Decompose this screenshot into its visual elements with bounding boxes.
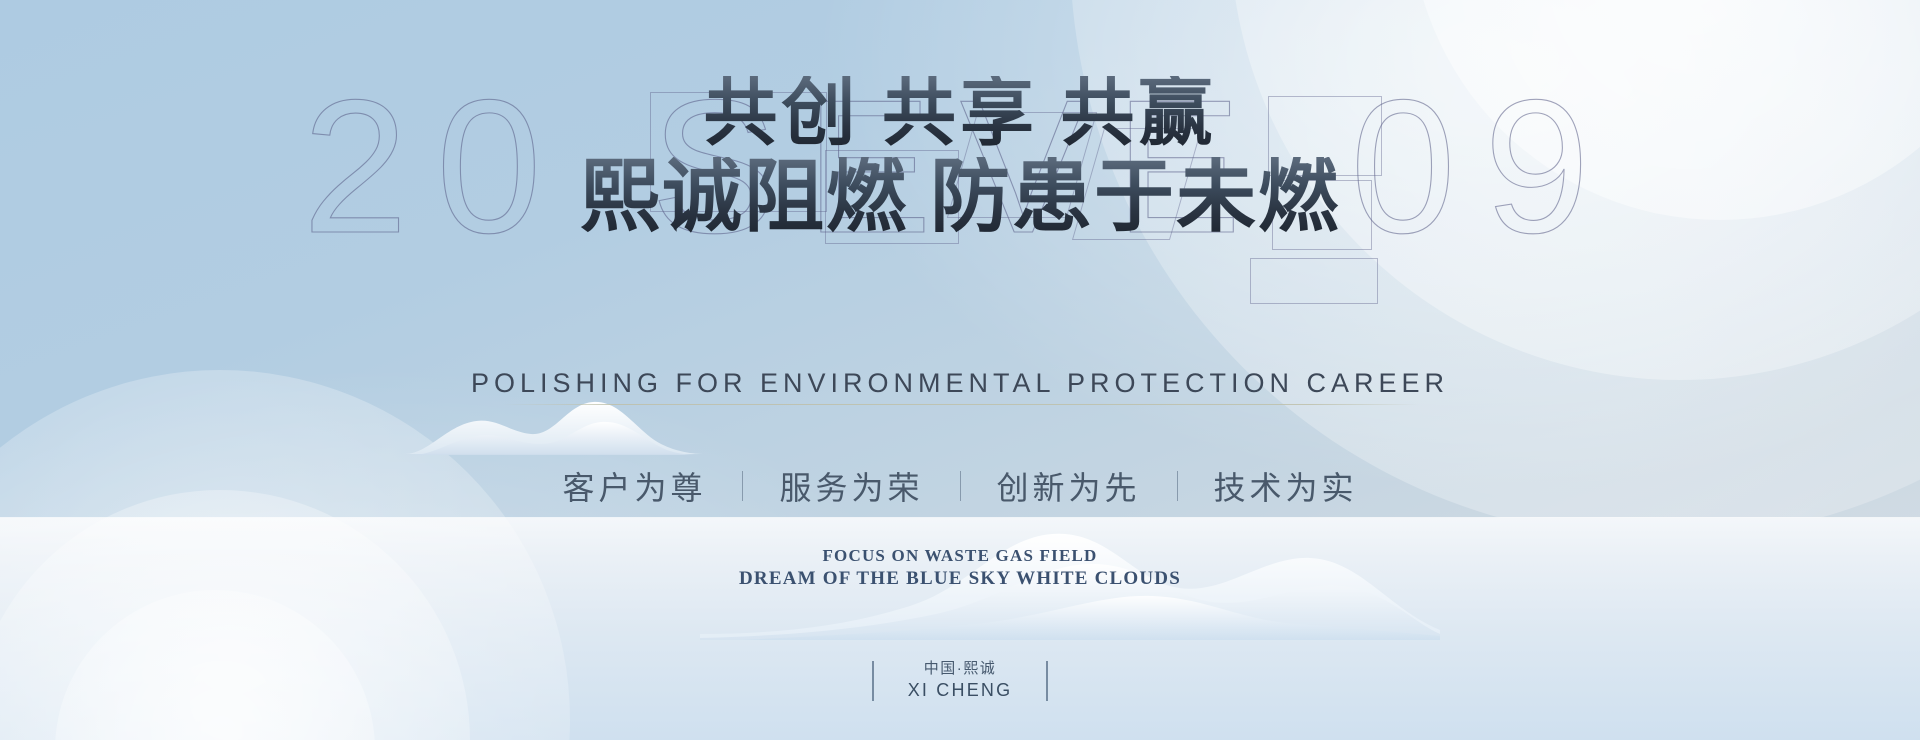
phrase-separator-3 — [1177, 471, 1178, 501]
headline-line-2: 熙诚阻燃 防患于未燃 — [0, 157, 1920, 240]
phrase-item-4: 技术为实 — [1178, 463, 1394, 509]
serif-english-line-2: DREAM OF THE BLUE SKY WHITE CLOUDS — [0, 568, 1920, 590]
wireframe-rect-5 — [1250, 258, 1378, 304]
brand-logo-block: 中国·熙诚 XI CHENG — [0, 660, 1920, 701]
value-phrase-row: 客户为尊 服务为荣 创新为先 技术为实 — [0, 463, 1920, 509]
phrase-item-3: 创新为先 — [961, 463, 1177, 509]
logo-bar-right — [1046, 661, 1048, 701]
promotional-banner: 20 SEVE 09 — [0, 0, 1920, 740]
headline-line-1: 共创 共享 共赢 — [0, 76, 1920, 153]
logo-bar-left — [872, 661, 874, 701]
phrase-separator-1 — [742, 471, 743, 501]
serif-english-line-1: FOCUS ON WASTE GAS FIELD — [0, 546, 1920, 566]
english-tagline: POLISHING FOR ENVIRONMENTAL PROTECTION C… — [0, 368, 1920, 399]
logo-chinese: 中国·熙诚 — [908, 660, 1013, 679]
headline-block: 共创 共享 共赢 熙诚阻燃 防患于未燃 — [0, 76, 1920, 240]
logo-text: 中国·熙诚 XI CHENG — [908, 660, 1013, 701]
phrase-item-2: 服务为荣 — [743, 463, 959, 509]
tagline-underline — [503, 404, 1419, 405]
cloud-left — [405, 398, 705, 458]
logo-english: XI CHENG — [908, 679, 1013, 702]
phrase-item-1: 客户为尊 — [526, 463, 742, 509]
phrase-separator-2 — [960, 471, 961, 501]
